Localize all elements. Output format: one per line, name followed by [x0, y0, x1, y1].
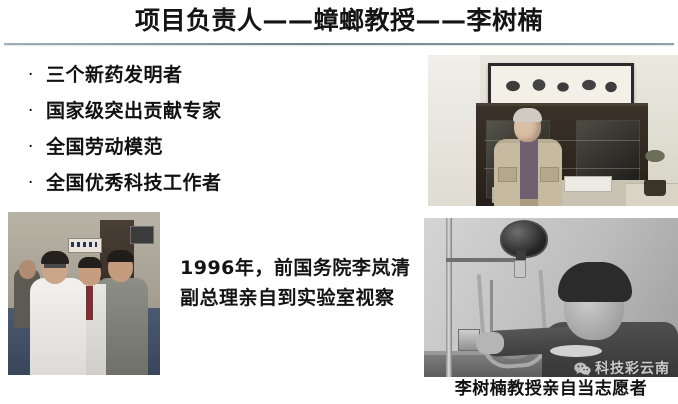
bullet-marker-icon: · — [28, 130, 46, 164]
bullet-list: · 三个新药发明者 · 国家级突出贡献专家 · 全国劳动模范 · 全国优秀科技工… — [28, 58, 408, 202]
list-item: · 全国劳动模范 — [28, 130, 408, 166]
calligraphy-ink — [501, 75, 621, 97]
bullet-item-label: 全国优秀科技工作者 — [46, 166, 222, 200]
slide-root: 项目负责人——蟑螂教授——李树楠 · 三个新药发明者 · 国家级突出贡献专家 ·… — [0, 0, 678, 404]
bullet-item-label: 国家级突出贡献专家 — [46, 94, 222, 128]
title-bar: 项目负责人——蟑螂教授——李树楠 — [0, 0, 678, 44]
bullet-marker-icon: · — [28, 94, 46, 128]
person-shirt — [520, 139, 538, 199]
photo-plant-pot — [644, 180, 666, 196]
bullet-item-label: 三个新药发明者 — [46, 58, 183, 92]
photo-iv-volunteer — [424, 218, 678, 377]
person-hair — [513, 108, 542, 122]
title-divider-shadow — [4, 45, 674, 46]
body-paragraph: 1996年，前国务院李岚清副总理亲自到实验室视察 — [180, 253, 416, 313]
person-suit-tie — [86, 286, 93, 320]
bullet-item-label: 全国劳动模范 — [46, 130, 163, 164]
person-lab-coat — [30, 278, 86, 375]
list-item: · 全国优秀科技工作者 — [28, 166, 408, 202]
person-lab-coat-hair — [41, 251, 69, 264]
photo-wall-frame — [130, 226, 154, 244]
person-hair — [558, 262, 632, 302]
vest-pocket — [540, 167, 559, 182]
bullet-marker-icon: · — [28, 58, 46, 92]
vest-pocket — [498, 167, 517, 182]
iv-stand-arm — [446, 258, 524, 262]
photo-caption: 李树楠教授亲自当志愿者 — [424, 378, 678, 400]
iv-stand-pole — [446, 218, 452, 377]
iv-flask-neck — [516, 250, 526, 260]
page-title: 项目负责人——蟑螂教授——李树楠 — [0, 4, 678, 38]
list-item: · 三个新药发明者 — [28, 58, 408, 94]
photo-wall-left — [428, 55, 480, 206]
list-item: · 国家级突出贡献专家 — [28, 94, 408, 130]
person-gray-hair — [107, 250, 134, 262]
person-background-head — [19, 260, 36, 279]
bullet-marker-icon: · — [28, 166, 46, 200]
photo-professor-portrait — [428, 55, 678, 206]
person-glasses-icon — [44, 264, 66, 268]
person-suit-hair — [78, 257, 102, 268]
lab-plate — [550, 345, 602, 357]
photo-door-sign-text — [71, 242, 97, 247]
person-hand — [476, 332, 504, 354]
photo-leadership-visit — [8, 212, 160, 375]
photo-desk-paper — [564, 176, 612, 192]
